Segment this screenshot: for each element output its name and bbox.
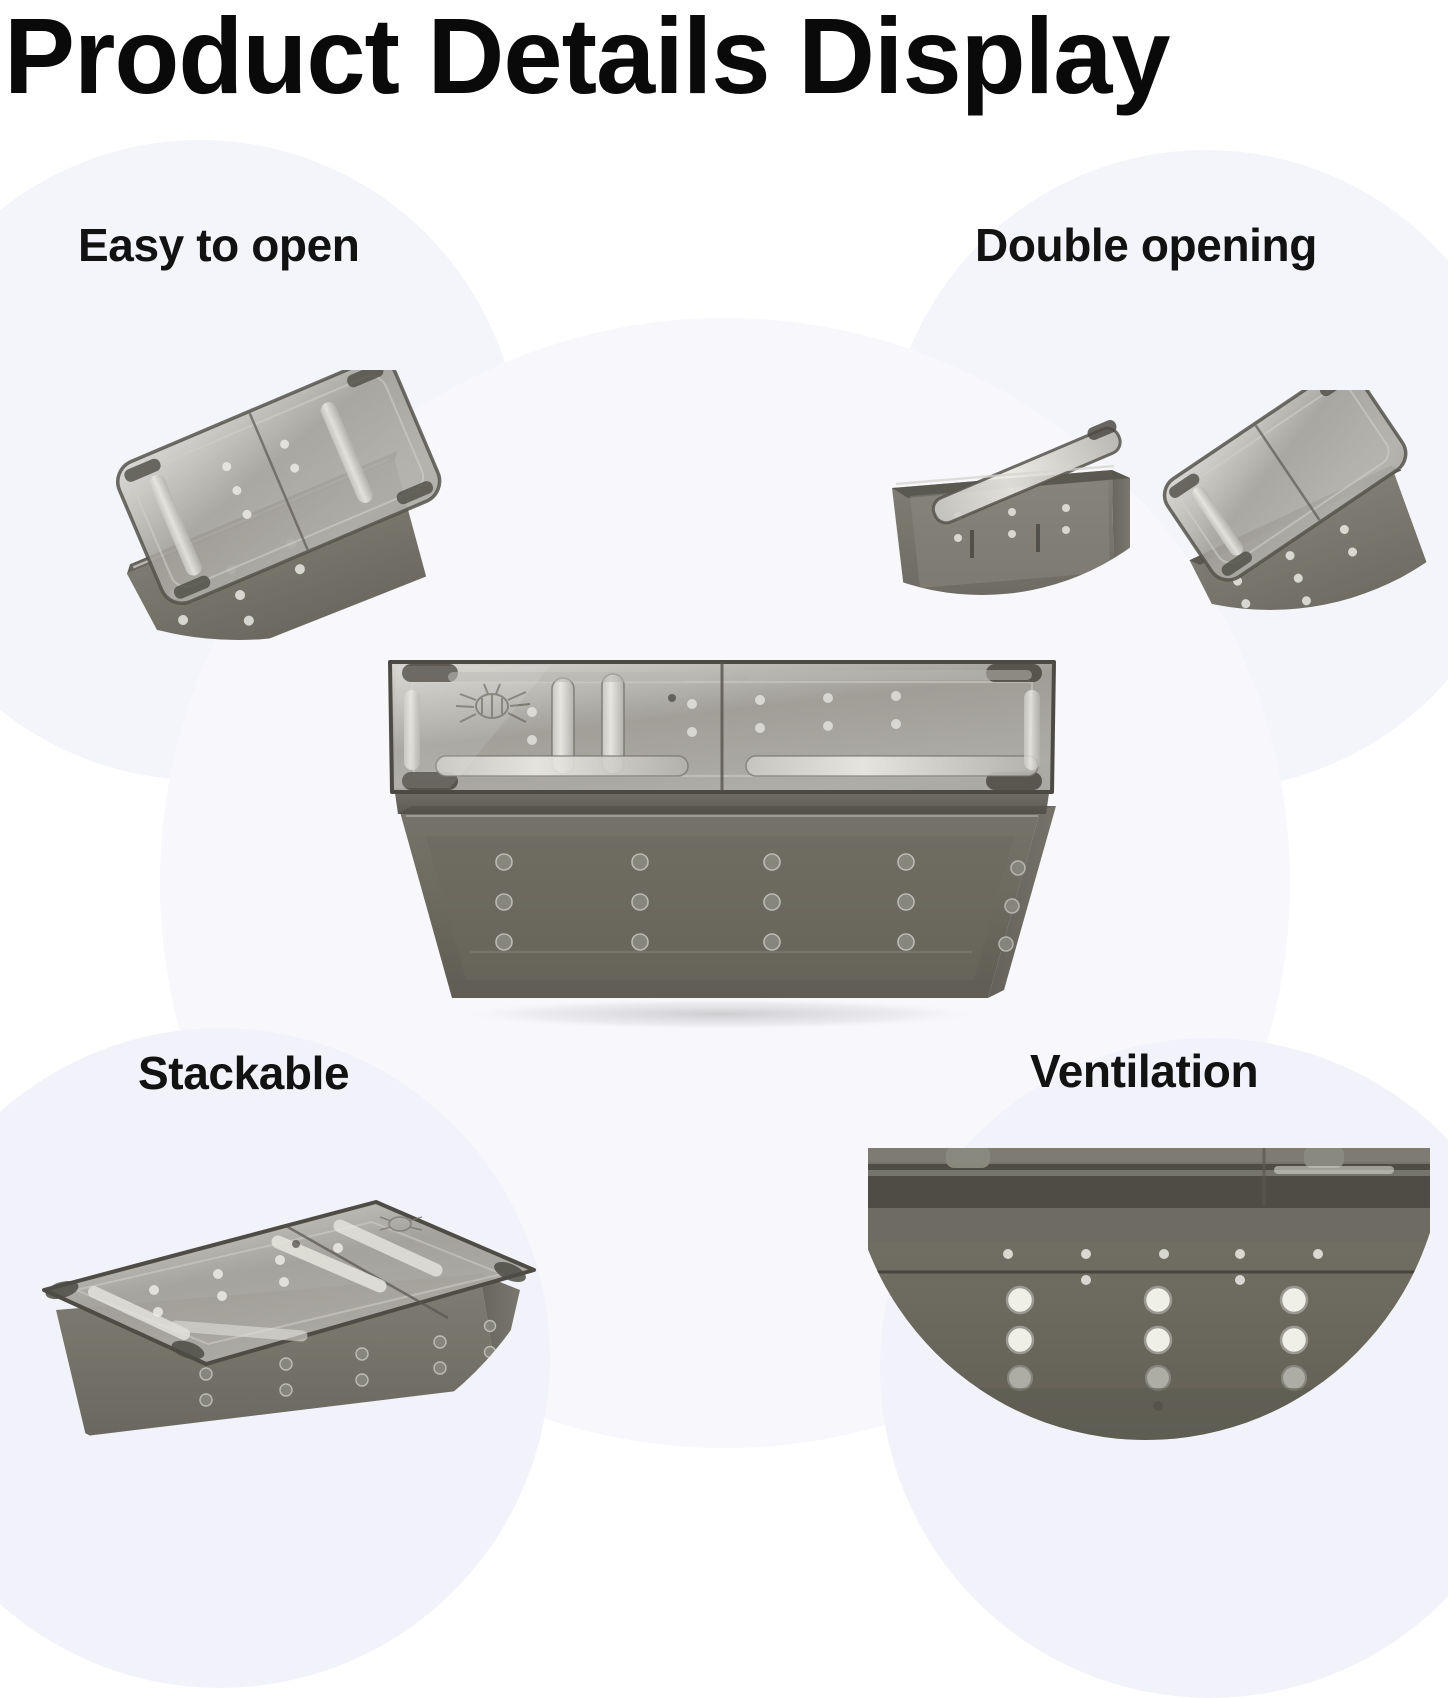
feature-image-double-opening-right (1152, 390, 1448, 668)
feature-label-stackable: Stackable (138, 1046, 349, 1100)
feature-image-stackable (28, 1178, 548, 1470)
feature-image-ventilation (868, 1148, 1430, 1470)
hero-product-image (340, 600, 1100, 1030)
feature-label-double-opening: Double opening (975, 218, 1317, 272)
feature-label-easy-to-open: Easy to open (78, 218, 360, 272)
feature-label-ventilation: Ventilation (1030, 1044, 1258, 1098)
page-title: Product Details Display (4, 0, 1170, 117)
